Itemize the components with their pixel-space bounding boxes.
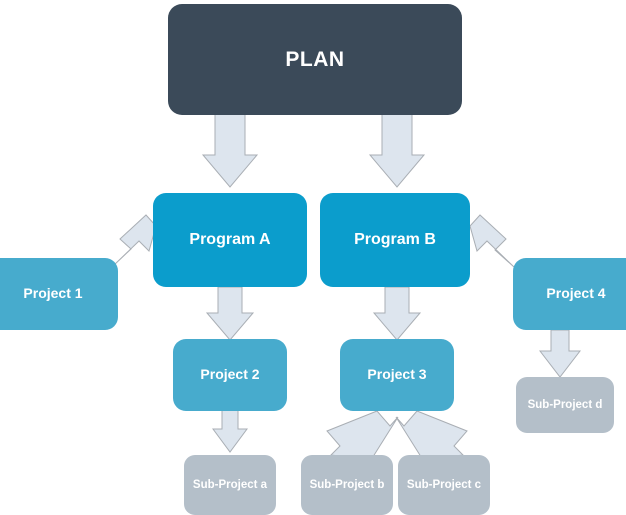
node-subproject-d-label: Sub-Project d: [528, 399, 603, 412]
arrow-project-4-to-subproject-d: [540, 330, 580, 377]
node-subproject-a[interactable]: Sub-Project a: [184, 455, 276, 515]
node-program-a-label: Program A: [189, 231, 270, 249]
node-project-2[interactable]: Project 2: [173, 339, 287, 411]
node-program-b[interactable]: Program B: [320, 193, 470, 287]
node-project-2-label: Project 2: [200, 367, 259, 382]
node-plan[interactable]: PLAN: [168, 4, 462, 115]
node-project-1-label: Project 1: [23, 286, 82, 301]
node-program-b-label: Program B: [354, 231, 436, 249]
node-subproject-d[interactable]: Sub-Project d: [516, 377, 614, 433]
node-project-3-label: Project 3: [367, 367, 426, 382]
arrow-project-3-to-subproject-c: [396, 411, 467, 460]
arrow-program-b-to-project-3: [374, 287, 420, 340]
node-project-4[interactable]: Project 4: [513, 258, 626, 330]
arrow-program-a-to-project-1: [113, 215, 156, 266]
diagram-canvas: PLAN Program A Program B Project 1 Proje…: [0, 0, 626, 515]
node-project-3[interactable]: Project 3: [340, 339, 454, 411]
node-subproject-a-label: Sub-Project a: [193, 479, 267, 492]
node-subproject-c[interactable]: Sub-Project c: [398, 455, 490, 515]
node-program-a[interactable]: Program A: [153, 193, 307, 287]
arrow-plan-to-program-a: [203, 114, 257, 187]
node-subproject-c-label: Sub-Project c: [407, 479, 481, 492]
node-plan-label: PLAN: [285, 48, 344, 71]
arrow-project-3-to-subproject-b: [327, 411, 398, 460]
node-project-4-label: Project 4: [546, 286, 605, 301]
arrow-plan-to-program-b: [370, 114, 424, 187]
node-subproject-b[interactable]: Sub-Project b: [301, 455, 393, 515]
arrow-program-b-to-project-4: [470, 215, 514, 267]
node-project-1[interactable]: Project 1: [0, 258, 118, 330]
node-subproject-b-label: Sub-Project b: [310, 479, 385, 492]
arrow-program-a-to-project-2: [207, 287, 253, 340]
arrow-project-2-to-subproject-a: [213, 410, 247, 452]
